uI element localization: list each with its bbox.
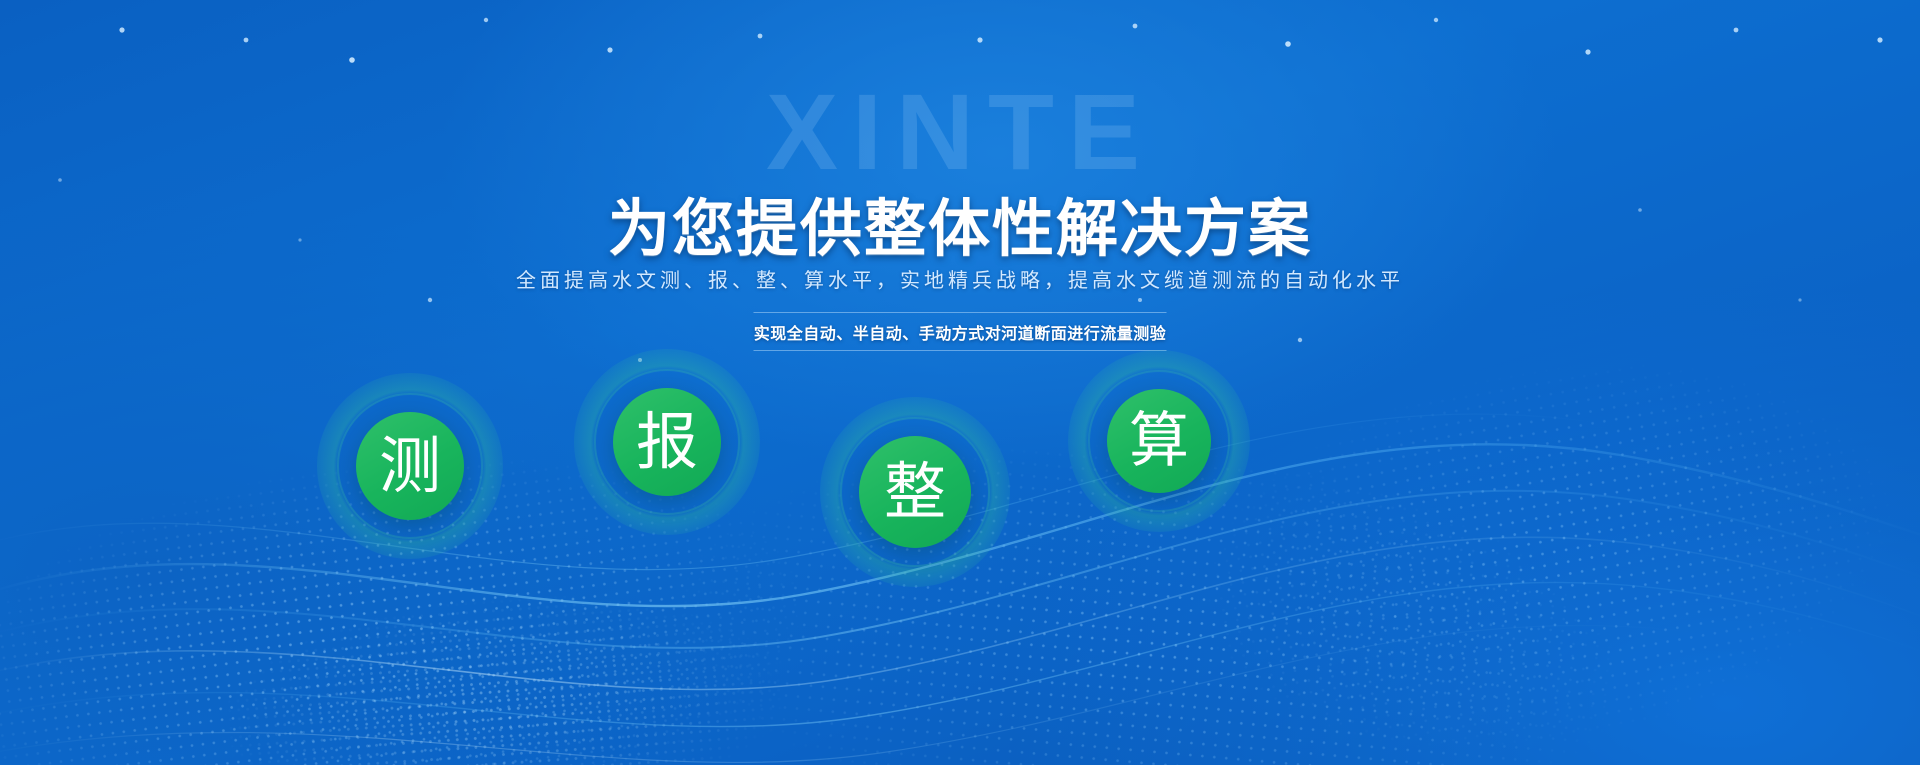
feature-badge-2[interactable]: 报 bbox=[557, 332, 777, 552]
badge-label: 整 bbox=[884, 461, 946, 523]
feature-badge-1[interactable]: 测 bbox=[300, 356, 520, 576]
badge-circle[interactable]: 测 bbox=[356, 412, 464, 520]
feature-badge-3[interactable]: 整 bbox=[805, 382, 1025, 602]
badge-circle[interactable]: 整 bbox=[859, 436, 971, 548]
badge-circle[interactable]: 报 bbox=[613, 388, 721, 496]
badge-circle[interactable]: 算 bbox=[1107, 389, 1211, 493]
hero-subtitle: 全面提高水文测、报、整、算水平，实地精兵战略，提高水文缆道测流的自动化水平 bbox=[0, 264, 1920, 293]
badge-label: 测 bbox=[379, 435, 441, 497]
hero-headline: 为您提供整体性解决方案 bbox=[0, 178, 1920, 268]
hero-banner: XINTE 为您提供整体性解决方案 全面提高水文测、报、整、算水平，实地精兵战略… bbox=[0, 0, 1920, 765]
feature-badge-4[interactable]: 算 bbox=[1049, 331, 1269, 551]
badge-label: 报 bbox=[636, 411, 698, 473]
badge-label: 算 bbox=[1129, 411, 1189, 471]
